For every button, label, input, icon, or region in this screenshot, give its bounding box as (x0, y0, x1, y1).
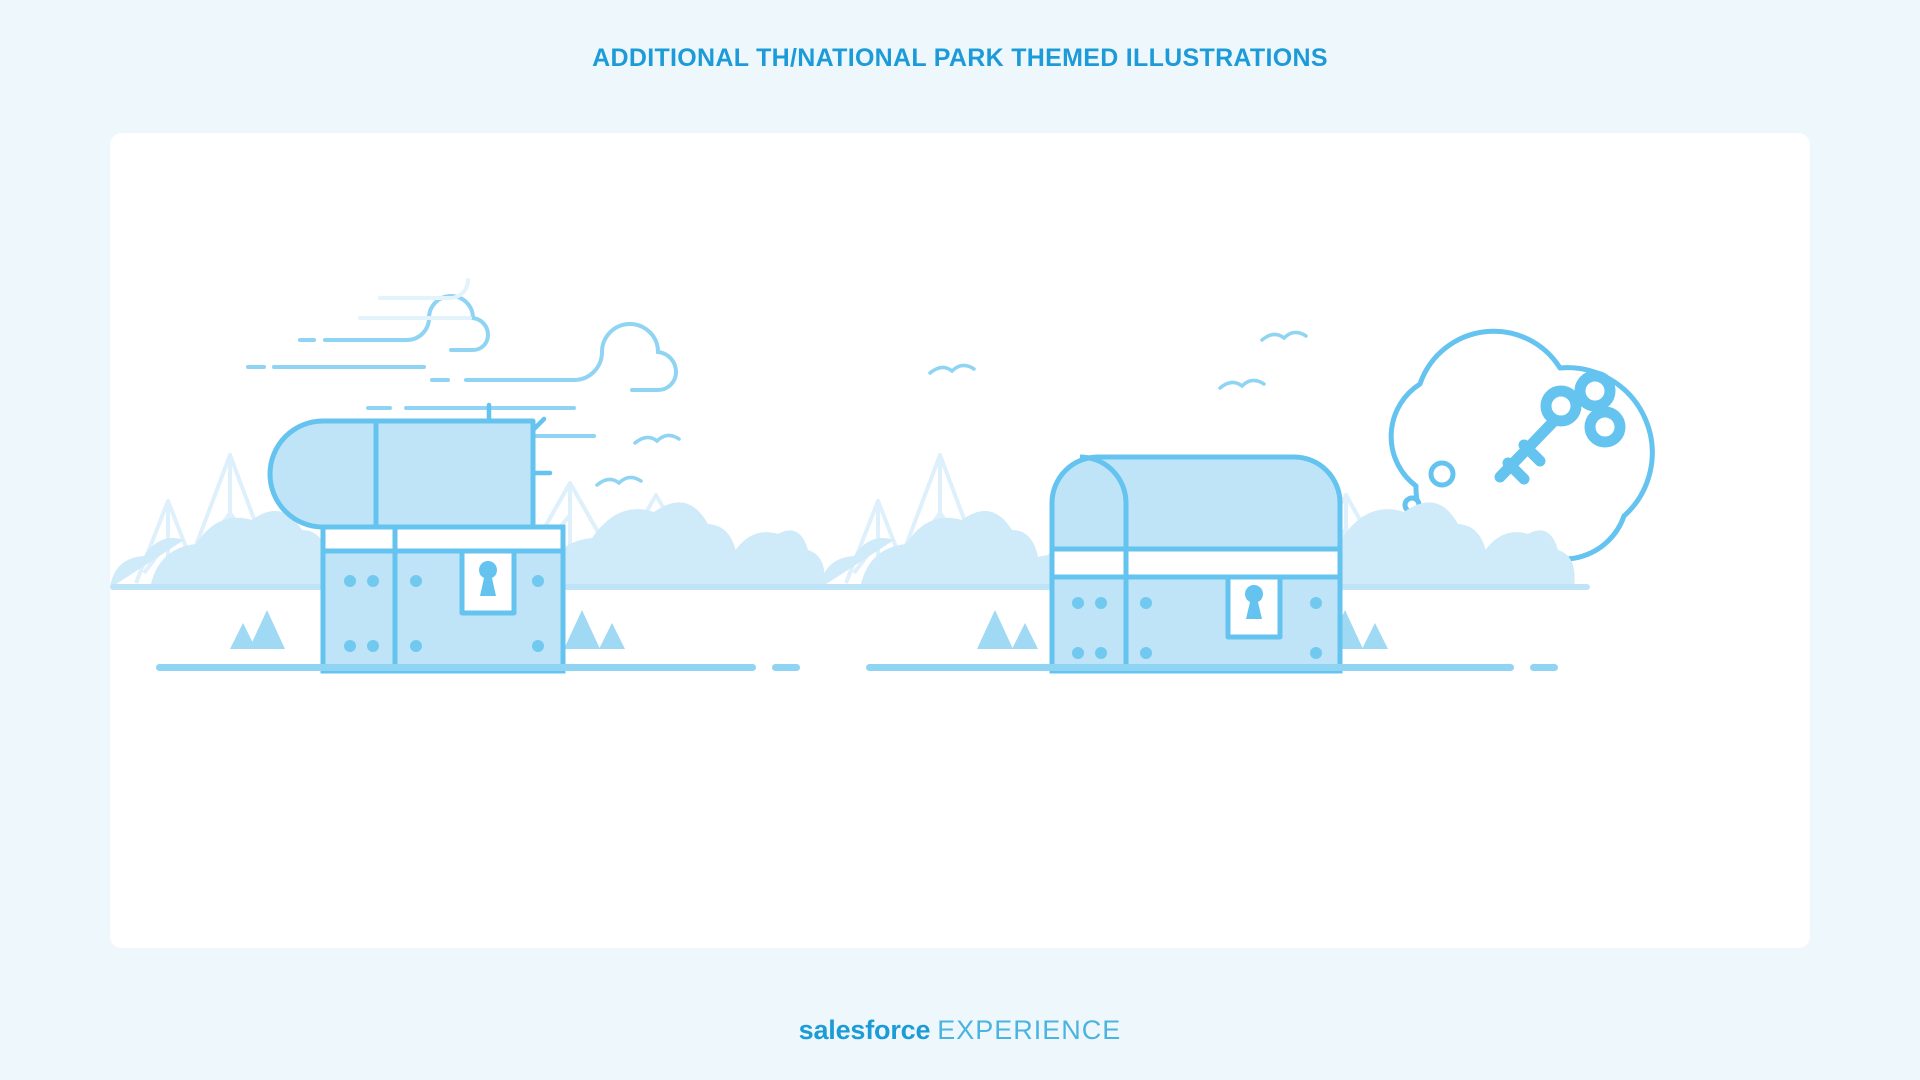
pine-tree (1012, 623, 1038, 649)
clouds-group (248, 280, 676, 436)
rivet (1095, 597, 1107, 609)
salesforce-wordmark: salesforce (799, 1015, 931, 1045)
ground-line-dash (1530, 664, 1558, 671)
bird-icon (1220, 380, 1264, 388)
rivet (367, 640, 379, 652)
rivet (1140, 597, 1152, 609)
chest-front (1052, 577, 1340, 671)
birds-group (930, 332, 1306, 388)
footer: salesforceEXPERIENCE (0, 1015, 1920, 1046)
bird-icon (597, 477, 641, 485)
ground-line-lower (156, 664, 756, 671)
rivet (344, 640, 356, 652)
pine-tree (249, 610, 285, 649)
pine-tree (599, 623, 625, 649)
open-chest-lid (270, 421, 533, 527)
birds-group (597, 435, 679, 485)
illustrations-canvas (110, 133, 1810, 948)
bubble-tail-dot-large (1431, 463, 1453, 485)
closed-chest (1052, 457, 1340, 671)
ground-line-lower (866, 664, 1514, 671)
rivet (1140, 647, 1152, 659)
open-treasure-chest-scene (110, 280, 834, 671)
bird-icon (635, 435, 679, 443)
pine-tree (1362, 623, 1388, 649)
illustration-page: ADDITIONAL TH/NATIONAL PARK THEMED ILLUS… (0, 0, 1920, 1080)
cloud-icon-faint (360, 280, 470, 318)
rivet (1095, 647, 1107, 659)
illustration-card (110, 133, 1810, 948)
rivet (410, 640, 422, 652)
pine-tree (564, 610, 600, 649)
pine-tree (977, 610, 1013, 649)
cloud-icon-small (248, 296, 488, 367)
open-chest-body (323, 527, 563, 671)
lid-body (270, 421, 533, 527)
chest-lid (1052, 457, 1340, 551)
rivet (532, 640, 544, 652)
rivet (1072, 597, 1084, 609)
rivet (532, 575, 544, 587)
bird-icon (930, 365, 974, 373)
ground-line-dash (772, 664, 800, 671)
chest-front (323, 551, 563, 671)
rivet (1072, 647, 1084, 659)
rivet (344, 575, 356, 587)
bird-icon (1262, 332, 1306, 340)
rivet (1310, 647, 1322, 659)
closed-treasure-chest-scene (800, 331, 1652, 671)
rivet (367, 575, 379, 587)
pine-tree (230, 623, 256, 649)
rivet (410, 575, 422, 587)
experience-wordmark: EXPERIENCE (937, 1015, 1121, 1045)
rivet (1310, 597, 1322, 609)
page-title: ADDITIONAL TH/NATIONAL PARK THEMED ILLUS… (592, 44, 1328, 73)
